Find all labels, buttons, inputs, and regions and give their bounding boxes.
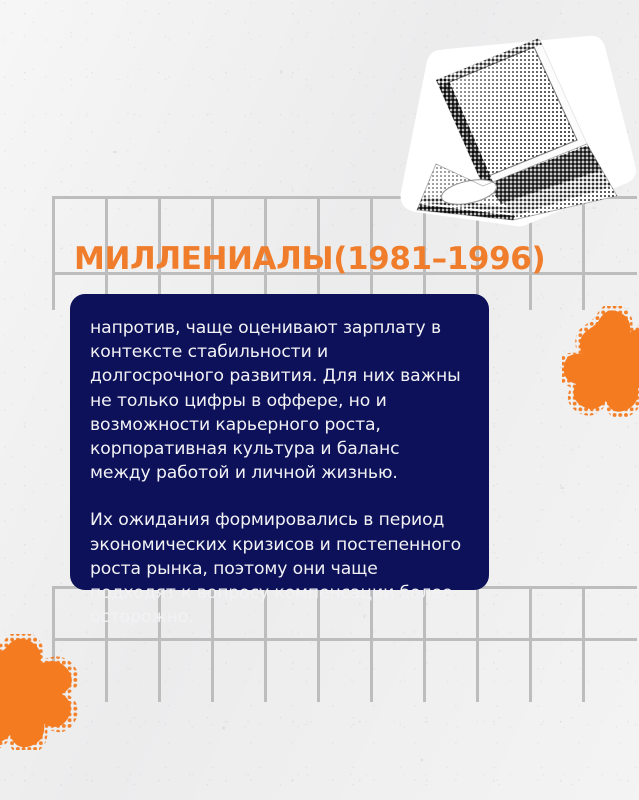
paragraph-1: напротив, чаще оценивают зарплату в конт… (90, 316, 463, 485)
grid-line-vertical (476, 586, 479, 702)
page-title: МИЛЛЕНИАЛЫ(1981–1996) (74, 243, 534, 276)
slide-canvas: МИЛЛЕНИАЛЫ(1981–1996) напротив, чаще оце… (0, 0, 639, 800)
grid-line-vertical (52, 196, 55, 310)
laptop-halftone-icon (391, 14, 639, 228)
flower-splat-icon-right (562, 306, 639, 418)
grid-line-vertical (52, 586, 55, 702)
flower-splat-icon-left (0, 634, 84, 750)
grid-line-vertical (529, 586, 532, 702)
grid-line-vertical (582, 586, 585, 702)
paragraph-2: Их ожидания формировались в период эконо… (90, 508, 463, 629)
body-text-card: напротив, чаще оценивают зарплату в конт… (70, 294, 489, 590)
grid-line-horizontal (52, 638, 637, 641)
